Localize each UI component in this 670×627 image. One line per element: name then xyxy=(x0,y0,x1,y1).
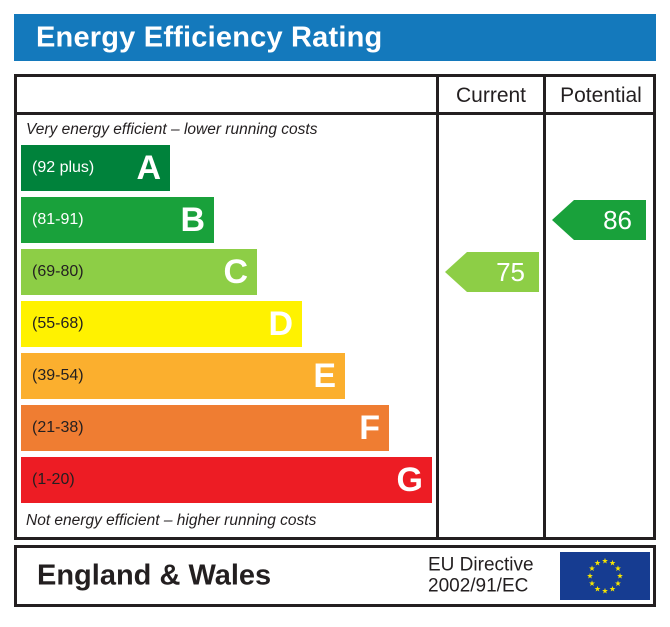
band-letter-g: G xyxy=(397,463,423,497)
band-range-g: (1-20) xyxy=(32,471,75,489)
eu-flag-icon xyxy=(560,552,650,600)
footer-directive: EU Directive 2002/91/EC xyxy=(428,555,534,598)
band-range-c: (69-80) xyxy=(32,263,84,281)
band-range-b: (81-91) xyxy=(32,211,84,229)
band-row-a: (92 plus)A xyxy=(21,145,170,191)
band-letter-a: A xyxy=(136,151,161,185)
band-list: (92 plus)A(81-91)B(69-80)C(55-68)D(39-54… xyxy=(17,145,436,510)
ratings-table: Current Potential Very energy efficient … xyxy=(14,74,656,540)
energy-efficiency-certificate: Energy Efficiency Rating Current Potenti… xyxy=(0,0,670,627)
band-range-a: (92 plus) xyxy=(32,159,94,177)
band-letter-d: D xyxy=(268,307,293,341)
rating-value-current: 75 xyxy=(496,257,525,288)
band-row-d: (55-68)D xyxy=(21,301,302,347)
caption-not-efficient: Not energy efficient – higher running co… xyxy=(26,512,316,530)
table-header-row: Current Potential xyxy=(17,77,653,115)
footer-directive-line2: 2002/91/EC xyxy=(428,576,534,597)
page-title: Energy Efficiency Rating xyxy=(36,21,382,54)
band-row-f: (21-38)F xyxy=(21,405,389,451)
band-letter-e: E xyxy=(313,359,336,393)
rating-arrow-potential: 86 xyxy=(552,200,646,240)
band-letter-c: C xyxy=(223,255,248,289)
band-letter-f: F xyxy=(359,411,380,445)
band-row-c: (69-80)C xyxy=(21,249,257,295)
footer-region-label: England & Wales xyxy=(37,560,271,593)
footer-directive-line1: EU Directive xyxy=(428,555,534,576)
band-range-f: (21-38) xyxy=(32,419,84,437)
band-letter-b: B xyxy=(180,203,205,237)
rating-value-potential: 86 xyxy=(603,205,632,236)
band-range-d: (55-68) xyxy=(32,315,84,333)
band-row-e: (39-54)E xyxy=(21,353,345,399)
band-row-g: (1-20)G xyxy=(21,457,432,503)
title-banner: Energy Efficiency Rating xyxy=(14,14,656,61)
caption-very-efficient: Very energy efficient – lower running co… xyxy=(26,121,318,139)
band-range-e: (39-54) xyxy=(32,367,84,385)
band-row-b: (81-91)B xyxy=(21,197,214,243)
column-header-current: Current xyxy=(439,77,543,115)
table-body: Very energy efficient – lower running co… xyxy=(17,115,653,540)
rating-arrow-current: 75 xyxy=(445,252,539,292)
footer: England & Wales EU Directive 2002/91/EC xyxy=(14,545,656,607)
column-header-potential: Potential xyxy=(546,77,656,115)
